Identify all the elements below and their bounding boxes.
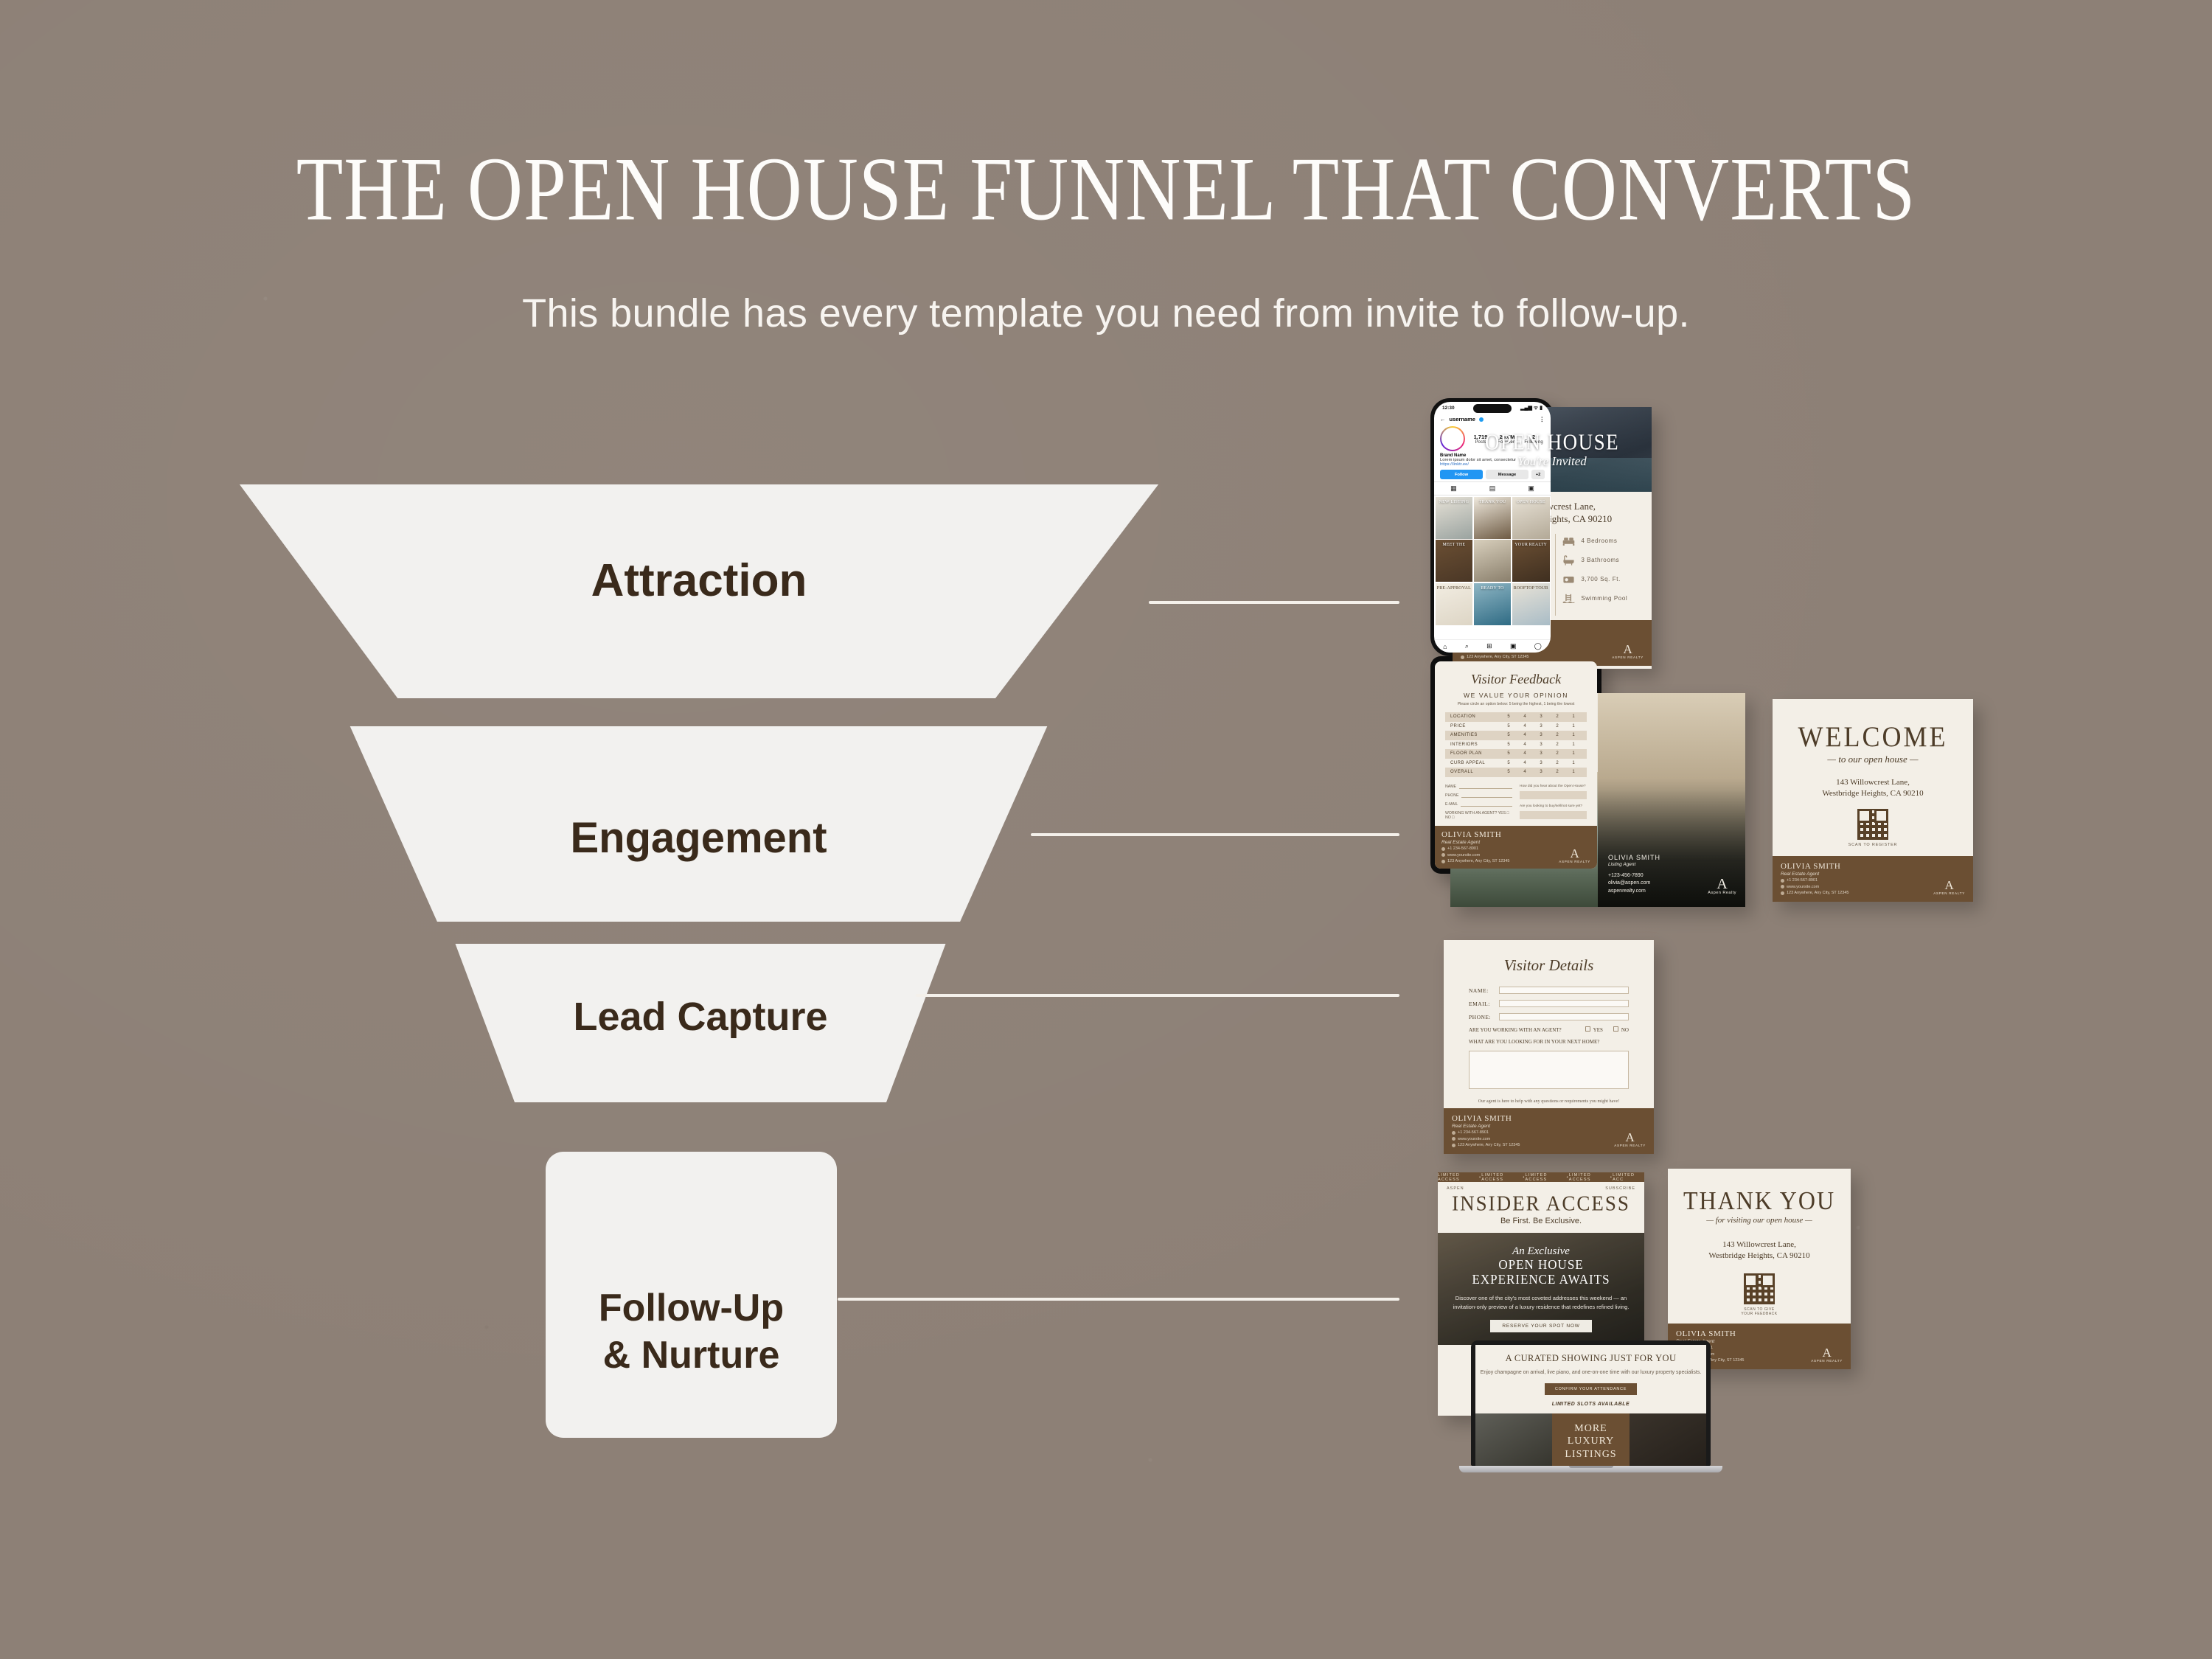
feedback-title: Visitor Feedback xyxy=(1435,661,1597,687)
logo-text: ASPEN REALTY xyxy=(1559,860,1590,863)
funnel-stage-follow-up[interactable]: Follow-Up & Nurture xyxy=(546,1152,837,1438)
thank-you-address-1: 143 Willowcrest Lane, xyxy=(1668,1239,1851,1251)
hero-body-text: Discover one of the city's most coveted … xyxy=(1453,1294,1630,1312)
mockup-welcome-sign[interactable]: WELCOME — to our open house — 143 Willow… xyxy=(1773,699,1973,902)
funnel-stage-attraction[interactable]: Attraction xyxy=(205,484,1193,698)
agent-brand-bar: OLIVIA SMITH Real Estate Agent +1 234-56… xyxy=(1773,856,1973,902)
funnel-stage-label: Follow-Up xyxy=(599,1287,784,1329)
score-3[interactable]: 3 xyxy=(1533,751,1549,756)
grid-post-label: OPEN HOUSE xyxy=(1512,500,1550,504)
connector-line-follow-up xyxy=(838,1298,1399,1301)
score-2[interactable]: 2 xyxy=(1549,742,1565,747)
laptop-camera-notch xyxy=(1574,1340,1608,1345)
mockup-visitor-feedback-tablet[interactable]: Visitor Feedback WE VALUE YOUR OPINION P… xyxy=(1430,656,1601,874)
thank-you-subtitle: — for visiting our open house — xyxy=(1668,1216,1851,1225)
looking-for-question: WHAT ARE YOU LOOKING FOR IN YOUR NEXT HO… xyxy=(1469,1038,1629,1046)
score-1[interactable]: 1 xyxy=(1565,724,1582,728)
thank-you-title: THANK YOU xyxy=(1668,1167,1851,1216)
grid-post[interactable]: PRE-APPROVAL xyxy=(1436,583,1473,625)
hero-script-text: An Exclusive xyxy=(1512,1245,1570,1258)
agent-address: 123 Anywhere, Any City, ST 12345 xyxy=(1787,891,1849,895)
agent-brand-bar: OLIVIA SMITH Real Estate Agent +1 234-56… xyxy=(1444,1108,1654,1155)
field-email[interactable]: E-MAIL xyxy=(1445,802,1512,807)
mockup-thank-you-card[interactable]: THANK YOU — for visiting our open house … xyxy=(1668,1169,1851,1369)
spec-area: 3,700 Sq. Ft. xyxy=(1562,574,1642,585)
row-label: INTERIORS xyxy=(1450,742,1500,747)
follow-button[interactable]: Follow xyxy=(1440,470,1483,479)
agent-question[interactable]: WORKING WITH AN AGENT? YES □ NO □ xyxy=(1445,811,1512,820)
score-1[interactable]: 1 xyxy=(1565,714,1582,719)
spec-bedrooms: 4 Bedrooms xyxy=(1562,535,1642,546)
agent-phone: +1 234-567-8901 xyxy=(1458,1130,1489,1135)
score-1[interactable]: 1 xyxy=(1565,761,1582,765)
visitor-details-note: Our agent is here to help with any quest… xyxy=(1469,1098,1629,1105)
score-2[interactable]: 2 xyxy=(1549,761,1565,765)
grid-post-label: NEW LISTING xyxy=(1436,500,1473,504)
score-4[interactable]: 4 xyxy=(1517,724,1533,728)
brochure-site: aspenrealty.com xyxy=(1608,888,1660,896)
email-logo[interactable]: ASPEN xyxy=(1447,1186,1464,1191)
qr-code[interactable] xyxy=(1744,1273,1775,1304)
laptop-body: Enjoy champagne on arrival, live piano, … xyxy=(1475,1368,1706,1377)
welcome-title: WELCOME xyxy=(1784,720,1961,754)
profile-username: username xyxy=(1450,416,1475,422)
aspen-realty-logo: A ASPEN REALTY xyxy=(1811,1347,1843,1363)
flyer-hero-title: OPEN HOUSE xyxy=(1485,428,1619,455)
location-icon xyxy=(1441,860,1445,863)
funnel-stage-label: Lead Capture xyxy=(573,995,827,1039)
feedback-question-2: Are you looking to buy/sell/not sure yet… xyxy=(1520,804,1587,809)
post-grid: NEW LISTING THANK YOU OPEN HOUSE MEET TH… xyxy=(1434,495,1551,626)
grid-post[interactable]: MEET THE xyxy=(1436,540,1473,582)
score-3[interactable]: 3 xyxy=(1533,724,1549,728)
email-subheading: Be First. Be Exclusive. xyxy=(1438,1217,1644,1233)
checkbox-label: YES xyxy=(1593,1027,1603,1033)
spec-label: 3 Bathrooms xyxy=(1581,557,1619,563)
location-icon xyxy=(1781,891,1784,895)
location-icon xyxy=(1452,1144,1455,1147)
feedback-instructions: Please circle an option below: 5 being t… xyxy=(1435,702,1597,706)
funnel-stage-lead-capture[interactable]: Lead Capture xyxy=(442,944,959,1102)
score-2[interactable]: 2 xyxy=(1549,714,1565,719)
text-input[interactable] xyxy=(1520,811,1587,819)
instagram-header: ← username ⋮ xyxy=(1434,414,1551,425)
reels-icon[interactable]: ▣ xyxy=(1510,642,1517,650)
globe-icon xyxy=(1452,1137,1455,1141)
score-4[interactable]: 4 xyxy=(1517,751,1533,756)
field-email[interactable]: EMAIL: xyxy=(1469,1000,1629,1007)
grid-post-label: ROOFTOP TOUR xyxy=(1512,586,1550,591)
table-row[interactable]: LOCATION54321 xyxy=(1445,712,1587,722)
laptop-base xyxy=(1459,1466,1722,1472)
score-3[interactable]: 3 xyxy=(1533,714,1549,719)
phone-status-bar: 12:30 ▂▄▆ ᯤ ▮ xyxy=(1434,402,1551,414)
agent-name: OLIVIA SMITH xyxy=(1676,1329,1745,1338)
phone-notch xyxy=(1473,404,1512,413)
score-2[interactable]: 2 xyxy=(1549,770,1565,774)
row-label: PRICE xyxy=(1450,724,1500,728)
grid-post-label: THANK YOU xyxy=(1474,500,1512,504)
strip-line-1: MORE xyxy=(1574,1422,1607,1436)
score-2[interactable]: 2 xyxy=(1549,733,1565,737)
score-5[interactable]: 5 xyxy=(1500,724,1517,728)
welcome-subtitle: — to our open house — xyxy=(1784,754,1961,765)
score-4[interactable]: 4 xyxy=(1517,761,1533,765)
logo-text: ASPEN REALTY xyxy=(1933,891,1965,895)
grid-post[interactable]: NEW LISTING xyxy=(1436,497,1473,539)
text-input[interactable] xyxy=(1499,1000,1629,1007)
aspen-realty-logo: A Aspen Realty xyxy=(1708,877,1736,895)
hero-line-1: OPEN HOUSE xyxy=(1498,1258,1583,1273)
listing-photo-left xyxy=(1475,1413,1552,1466)
agent-website: www.yoursite.com xyxy=(1787,885,1819,889)
agent-question: ARE YOU WORKING WITH AN AGENT? xyxy=(1469,1026,1575,1034)
welcome-address-2: Westbridge Heights, CA 90210 xyxy=(1784,788,1961,799)
score-4[interactable]: 4 xyxy=(1517,770,1533,774)
verified-badge-icon xyxy=(1479,417,1484,422)
add-icon[interactable]: ⊞ xyxy=(1486,642,1492,650)
score-4[interactable]: 4 xyxy=(1517,733,1533,737)
confirm-attendance-button[interactable]: CONFIRM YOUR ATTENDANCE xyxy=(1545,1383,1637,1395)
email-heading: INSIDER ACCESS xyxy=(1438,1192,1644,1216)
grid-post[interactable]: ROOFTOP TOUR xyxy=(1512,583,1550,625)
funnel-stage-label: Attraction xyxy=(591,555,807,606)
strip-line-3: LISTINGS xyxy=(1565,1448,1616,1461)
field-label: EMAIL: xyxy=(1469,1001,1494,1007)
agent-address: 123 Anywhere, Any City, ST 12345 xyxy=(1467,655,1529,659)
agent-role: Real Estate Agent xyxy=(1781,872,1849,877)
more-luxury-listings-block[interactable]: MORE LUXURY LISTINGS xyxy=(1552,1413,1629,1466)
aspen-realty-logo: A ASPEN REALTY xyxy=(1933,880,1965,895)
table-row[interactable]: INTERIORS54321 xyxy=(1445,740,1587,750)
score-5[interactable]: 5 xyxy=(1500,742,1517,747)
brochure-email: olivia@aspen.com xyxy=(1608,880,1660,888)
checkbox-yes[interactable]: YES xyxy=(1585,1026,1603,1034)
spec-label: 3,700 Sq. Ft. xyxy=(1581,576,1621,582)
score-3[interactable]: 3 xyxy=(1533,733,1549,737)
grid-post-label: PRE-APPROVAL xyxy=(1436,586,1473,591)
agent-address: 123 Anywhere, Any City, ST 12345 xyxy=(1458,1143,1520,1147)
limited-slots-text: LIMITED SLOTS AVAILABLE xyxy=(1475,1402,1706,1407)
email-hero-image: An Exclusive OPEN HOUSE EXPERIENCE AWAIT… xyxy=(1438,1233,1644,1345)
brochure-agent-name: OLIVIA SMITH xyxy=(1608,854,1660,861)
tab-tagged-icon[interactable]: ▣ xyxy=(1512,482,1551,495)
grid-post[interactable]: READY TO xyxy=(1474,583,1512,625)
score-1[interactable]: 1 xyxy=(1565,770,1582,774)
message-button[interactable]: Message xyxy=(1486,470,1528,479)
score-4[interactable]: 4 xyxy=(1517,714,1533,719)
welcome-address-1: 143 Willowcrest Lane, xyxy=(1784,777,1961,788)
text-input[interactable] xyxy=(1499,1013,1629,1020)
score-1[interactable]: 1 xyxy=(1565,742,1582,747)
table-row[interactable]: AMENITIES54321 xyxy=(1445,731,1587,740)
score-3[interactable]: 3 xyxy=(1533,742,1549,747)
spec-pool: Swimming Pool xyxy=(1562,593,1642,604)
funnel-stage-engagement[interactable]: Engagement xyxy=(335,726,1062,922)
agent-website: www.yoursite.com xyxy=(1458,1137,1490,1141)
logo-text: ASPEN REALTY xyxy=(1614,1144,1646,1147)
agent-address: 123 Anywhere, Any City, ST 12345 xyxy=(1447,859,1510,863)
area-icon xyxy=(1562,574,1575,585)
agent-role: Real Estate Agent xyxy=(1452,1124,1520,1129)
agent-name: OLIVIA SMITH xyxy=(1441,830,1510,839)
mockup-laptop[interactable]: A CURATED SHOWING JUST FOR YOU Enjoy cha… xyxy=(1471,1340,1711,1484)
qr-caption: SCAN TO REGISTER xyxy=(1784,843,1961,847)
agent-phone: +1 234-567-8901 xyxy=(1787,878,1818,883)
reserve-spot-button[interactable]: RESERVE YOUR SPOT NOW xyxy=(1490,1320,1591,1332)
agent-brand-bar: OLIVIA SMITH Real Estate Agent +1 234-56… xyxy=(1435,826,1597,869)
grid-post[interactable]: OPEN HOUSE xyxy=(1512,497,1550,539)
more-options-icon[interactable]: ⋮ xyxy=(1540,416,1545,422)
field-label: PHONE xyxy=(1445,793,1458,798)
laptop-heading: A CURATED SHOWING JUST FOR YOU xyxy=(1475,1345,1706,1364)
text-input[interactable] xyxy=(1499,987,1629,994)
score-5[interactable]: 5 xyxy=(1500,714,1517,719)
funnel-stage-label-2: & Nurture xyxy=(603,1334,780,1377)
status-icons: ▂▄▆ ᯤ ▮ xyxy=(1520,405,1543,411)
field-label: E-MAIL xyxy=(1445,802,1458,807)
score-5[interactable]: 5 xyxy=(1500,751,1517,756)
spec-label: Swimming Pool xyxy=(1581,595,1627,602)
status-time: 12:30 xyxy=(1442,406,1455,411)
brochure-photo-right: OLIVIA SMITH Listing Agent +123-456-7890… xyxy=(1598,693,1745,907)
feedback-question-1: How did you hear about the Open House? xyxy=(1520,785,1587,789)
agent-website: www.yoursite.com xyxy=(1447,853,1480,858)
agent-role: Real Estate Agent xyxy=(1441,840,1510,845)
bathtub-icon xyxy=(1562,554,1575,566)
grid-post[interactable]: YOUR REALTY xyxy=(1512,540,1550,582)
template-mockups-panel: OPEN HOUSE You're Invited 143 Willowcres… xyxy=(1430,398,2168,1548)
ticker-item: LIMITED ACC xyxy=(1613,1173,1644,1182)
logo-mark: A xyxy=(1811,1347,1843,1358)
score-2[interactable]: 2 xyxy=(1549,724,1565,728)
logo-mark: A xyxy=(1933,880,1965,891)
search-icon[interactable]: ⌕ xyxy=(1465,642,1469,650)
grid-post-label: YOUR REALTY xyxy=(1512,543,1550,547)
score-5[interactable]: 5 xyxy=(1500,761,1517,765)
score-3[interactable]: 3 xyxy=(1533,770,1549,774)
field-name[interactable]: NAME: xyxy=(1469,987,1629,994)
field-name[interactable]: NAME xyxy=(1445,785,1512,789)
email-ticker-bar: LIMITED ACCESS • LIMITED ACCESS • LIMITE… xyxy=(1438,1172,1644,1182)
field-label: PHONE: xyxy=(1469,1014,1494,1020)
connector-line-engagement xyxy=(1031,833,1399,836)
globe-icon xyxy=(1781,885,1784,888)
bed-icon xyxy=(1562,535,1575,546)
thank-you-address-2: Westbridge Heights, CA 90210 xyxy=(1668,1251,1851,1262)
back-icon[interactable]: ← xyxy=(1440,416,1446,422)
row-label: AMENITIES xyxy=(1450,733,1500,737)
avatar[interactable] xyxy=(1440,426,1465,451)
text-input[interactable] xyxy=(1520,791,1587,799)
subscribe-link[interactable]: SUBSCRIBE xyxy=(1605,1186,1635,1191)
ticker-item: LIMITED ACCESS xyxy=(1526,1173,1567,1182)
checkbox-no[interactable]: NO xyxy=(1613,1026,1629,1034)
field-phone[interactable]: PHONE xyxy=(1445,793,1512,798)
logo-mark: A xyxy=(1612,644,1644,655)
grid-post[interactable]: THANK YOU xyxy=(1474,497,1512,539)
field-label: NAME: xyxy=(1469,987,1494,994)
logo-mark: A xyxy=(1614,1132,1646,1143)
table-row[interactable]: PRICE54321 xyxy=(1445,722,1587,731)
logo-text: ASPEN REALTY xyxy=(1612,655,1644,659)
location-icon xyxy=(1461,655,1464,659)
grid-post-label: READY TO xyxy=(1474,586,1512,591)
add-friend-button[interactable]: +2 xyxy=(1531,470,1545,479)
funnel-diagram: Attraction Engagement Lead Capture Follo… xyxy=(0,0,1253,1659)
aspen-realty-logo: A ASPEN REALTY xyxy=(1614,1132,1646,1147)
score-1[interactable]: 1 xyxy=(1565,751,1582,756)
score-5[interactable]: 5 xyxy=(1500,733,1517,737)
score-1[interactable]: 1 xyxy=(1565,733,1582,737)
score-2[interactable]: 2 xyxy=(1549,751,1565,756)
mockup-insider-access-email[interactable]: LIMITED ACCESS • LIMITED ACCESS • LIMITE… xyxy=(1438,1172,1644,1416)
tab-reels-icon[interactable]: ▤ xyxy=(1473,482,1512,495)
globe-icon xyxy=(1441,853,1445,857)
pool-icon xyxy=(1562,593,1575,604)
spec-label: 4 Bedrooms xyxy=(1581,538,1617,544)
score-3[interactable]: 3 xyxy=(1533,761,1549,765)
feedback-rating-table: LOCATION54321 PRICE54321 AMENITIES54321 … xyxy=(1445,712,1587,777)
home-icon[interactable]: ⌂ xyxy=(1443,643,1447,650)
table-row[interactable]: CURB APPEAL54321 xyxy=(1445,759,1587,768)
table-row[interactable]: OVERALL54321 xyxy=(1445,768,1587,777)
row-label: CURB APPEAL xyxy=(1450,761,1500,765)
qr-code[interactable] xyxy=(1857,809,1888,840)
connector-line-lead-capture xyxy=(916,994,1399,997)
row-label: LOCATION xyxy=(1450,714,1500,719)
flyer-hero-script: You're Invited xyxy=(1517,454,1587,469)
brochure-phone: +123-456-7890 xyxy=(1608,872,1660,880)
aspen-realty-logo: A ASPEN REALTY xyxy=(1559,848,1590,863)
agent-name: OLIVIA SMITH xyxy=(1781,862,1849,871)
visitor-details-title: Visitor Details xyxy=(1444,940,1654,975)
mockup-visitor-details-form[interactable]: Visitor Details NAME: EMAIL: PHONE: ARE … xyxy=(1444,940,1654,1154)
aspen-realty-logo: A ASPEN REALTY xyxy=(1612,644,1644,659)
agent-name: OLIVIA SMITH xyxy=(1452,1114,1520,1123)
ticker-item: LIMITED ACCESS xyxy=(1481,1173,1523,1182)
phone-icon xyxy=(1452,1131,1455,1135)
logo-mark: A xyxy=(1708,877,1736,891)
ticker-item: LIMITED ACCESS xyxy=(1438,1173,1479,1182)
checkbox-label: NO xyxy=(1621,1027,1629,1033)
table-row[interactable]: FLOOR PLAN54321 xyxy=(1445,749,1587,759)
qr-caption-2: YOUR FEEDBACK xyxy=(1668,1312,1851,1317)
listing-photo-right xyxy=(1630,1413,1706,1466)
grid-post-label: MEET THE xyxy=(1436,543,1473,547)
phone-bottom-nav: ⌂ ⌕ ⊞ ▣ ◯ xyxy=(1434,639,1551,653)
funnel-stage-label: Engagement xyxy=(570,815,827,863)
row-label: OVERALL xyxy=(1450,770,1500,774)
feedback-subtitle: WE VALUE YOUR OPINION xyxy=(1435,692,1597,699)
brochure-agent-role: Listing Agent xyxy=(1608,862,1660,867)
spec-bathrooms: 3 Bathrooms xyxy=(1562,554,1642,566)
logo-mark: A xyxy=(1559,848,1590,859)
phone-icon xyxy=(1781,879,1784,883)
connector-line-attraction xyxy=(1149,601,1399,604)
field-label: WORKING WITH AN AGENT? YES □ NO □ xyxy=(1445,811,1512,820)
profile-icon[interactable]: ◯ xyxy=(1534,642,1542,650)
field-phone[interactable]: PHONE: xyxy=(1469,1013,1629,1020)
logo-text: Aspen Realty xyxy=(1708,891,1736,895)
strip-line-2: LUXURY xyxy=(1568,1435,1615,1448)
row-label: FLOOR PLAN xyxy=(1450,751,1500,756)
textarea-input[interactable] xyxy=(1469,1051,1629,1089)
agent-phone: +1 234-567-8901 xyxy=(1447,846,1478,851)
tab-grid-icon[interactable]: ▦ xyxy=(1434,482,1473,495)
hero-line-2: EXPERIENCE AWAITS xyxy=(1472,1273,1610,1288)
field-label: NAME xyxy=(1445,785,1456,789)
score-5[interactable]: 5 xyxy=(1500,770,1517,774)
logo-text: ASPEN REALTY xyxy=(1811,1359,1843,1363)
ticker-item: LIMITED ACCESS xyxy=(1569,1173,1610,1182)
grid-post[interactable] xyxy=(1474,540,1512,582)
phone-icon xyxy=(1441,847,1445,851)
score-4[interactable]: 4 xyxy=(1517,742,1533,747)
